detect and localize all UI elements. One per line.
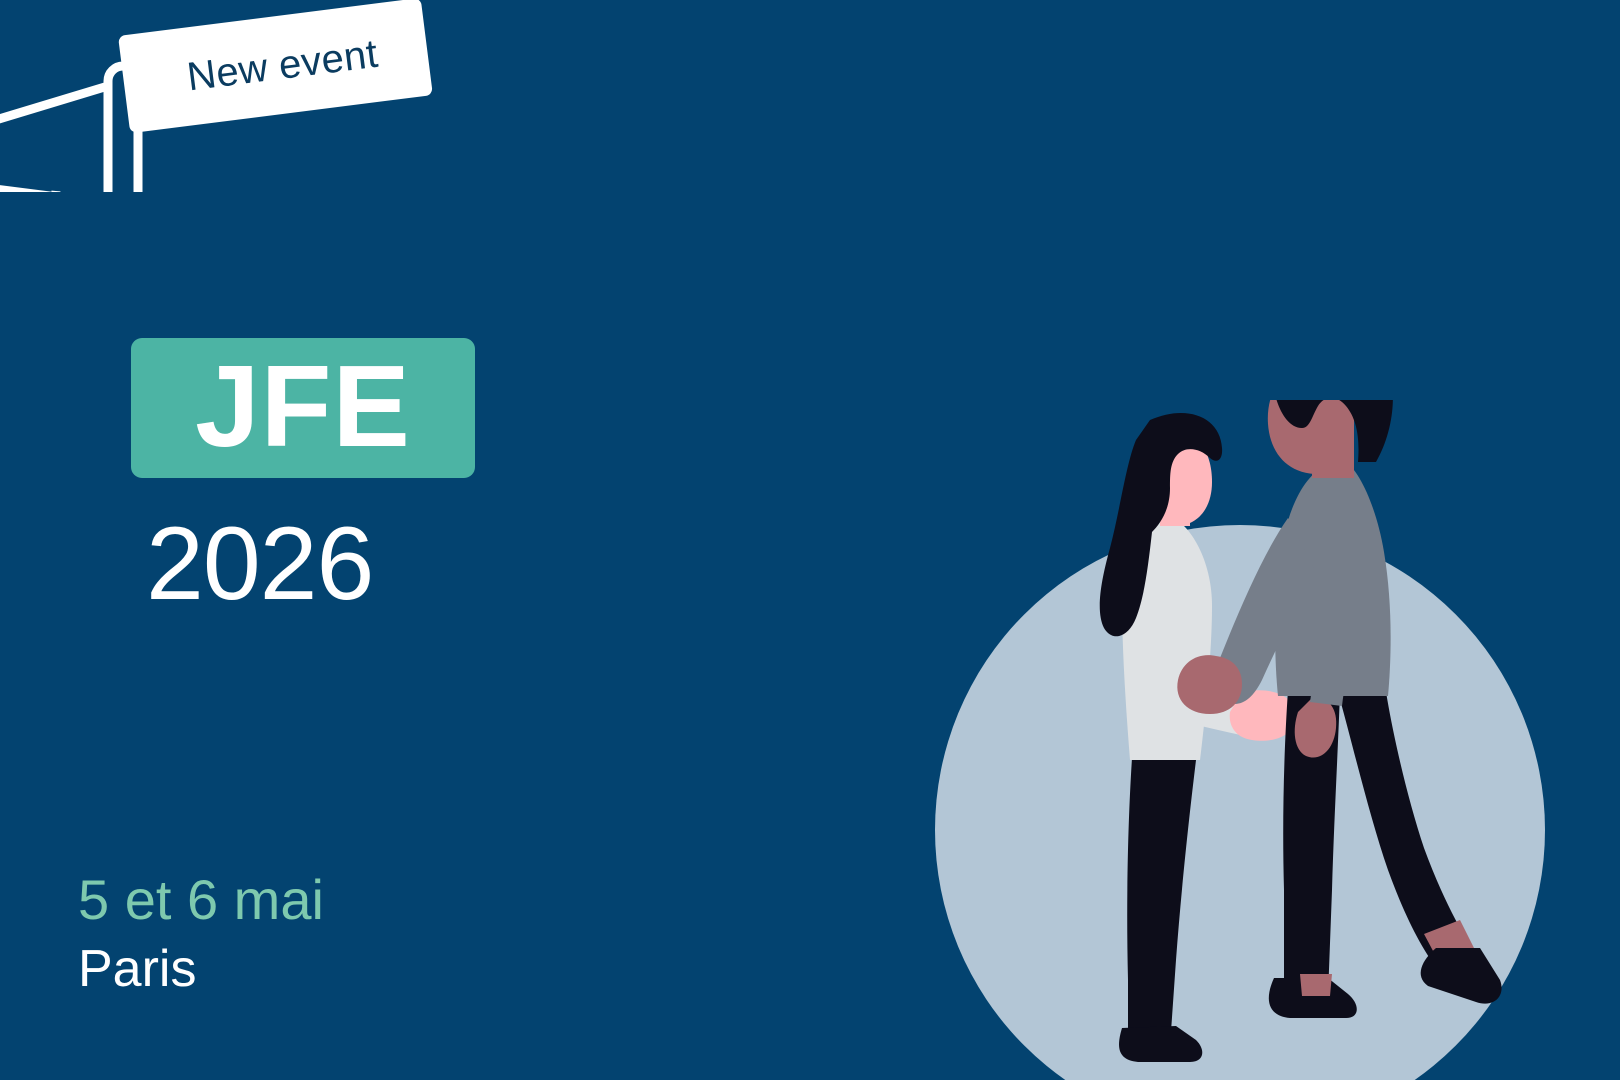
jfe-logo-text: JFE [195, 348, 411, 464]
event-year: 2026 [146, 512, 373, 616]
two-people-handshake-illustration [860, 400, 1620, 1080]
event-dates: 5 et 6 mai [78, 872, 324, 928]
jfe-logo-badge: JFE [131, 338, 475, 478]
event-city: Paris [78, 943, 196, 995]
illustration-backdrop-circle [935, 525, 1545, 1080]
event-announcement-poster: New event JFE 2026 5 et 6 mai Paris [0, 0, 1620, 1080]
event-text-block: JFE 2026 5 et 6 mai Paris [0, 0, 640, 1080]
